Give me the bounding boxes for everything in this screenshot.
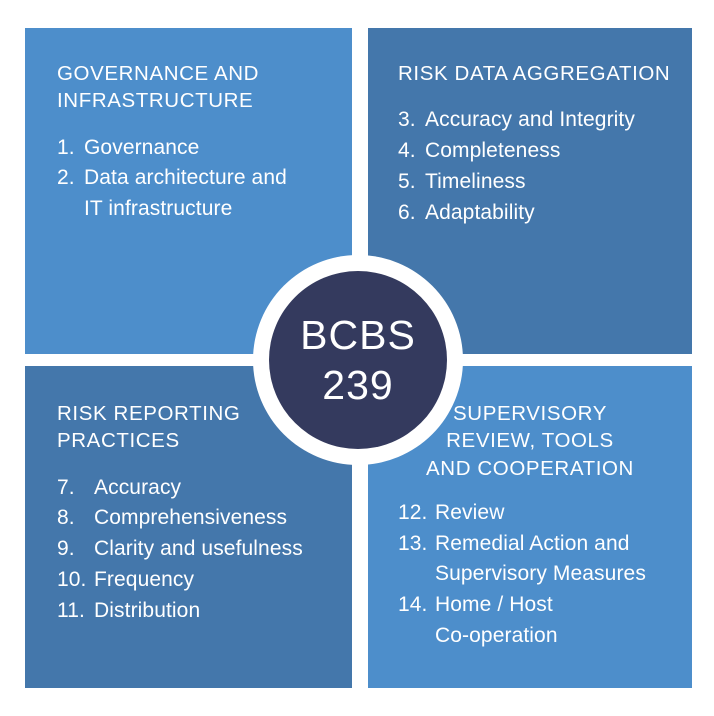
- center-hub-ring: BCBS 239: [253, 255, 463, 465]
- list-item: 14. Home / Host Co-operation: [398, 590, 676, 652]
- list-item: 5. Timeliness: [398, 167, 678, 198]
- list-item-number: 12.: [398, 498, 435, 529]
- list-item-label: Governance: [84, 133, 334, 164]
- list-item-label: Data architecture and IT infrastructure: [84, 163, 334, 225]
- list-item-number: 13.: [398, 529, 435, 560]
- principle-list-risk-data-aggregation: 3. Accuracy and Integrity 4. Completenes…: [398, 105, 678, 228]
- list-item-number: 10.: [57, 565, 94, 596]
- bcbs-239-diagram: GOVERNANCE AND INFRASTRUCTURE 1. Governa…: [0, 0, 714, 716]
- principle-list-governance-and-infrastructure: 1. Governance 2. Data architecture and I…: [57, 133, 334, 226]
- list-item-label: Frequency: [94, 565, 338, 596]
- list-item-number: 14.: [398, 590, 435, 621]
- quadrant-heading-risk-data-aggregation: RISK DATA AGGREGATION: [398, 60, 678, 87]
- list-item-label: Review: [435, 498, 676, 529]
- list-item-number: 4.: [398, 136, 425, 167]
- list-item-number: 7.: [57, 473, 94, 504]
- list-item-number: 8.: [57, 503, 94, 534]
- list-item-label: Timeliness: [425, 167, 678, 198]
- list-item: 1. Governance: [57, 133, 334, 164]
- principle-list-risk-reporting-practices: 7. Accuracy 8. Comprehensiveness 9. Clar…: [57, 473, 338, 627]
- list-item: 7. Accuracy: [57, 473, 338, 504]
- list-item-label: Accuracy and Integrity: [425, 105, 678, 136]
- list-item-label: Comprehensiveness: [94, 503, 338, 534]
- list-item: 2. Data architecture and IT infrastructu…: [57, 163, 334, 225]
- list-item: 8. Comprehensiveness: [57, 503, 338, 534]
- list-item-label: Home / Host Co-operation: [435, 590, 676, 652]
- list-item-label: Completeness: [425, 136, 678, 167]
- list-item-label: Distribution: [94, 596, 338, 627]
- list-item-label: Accuracy: [94, 473, 338, 504]
- list-item: 6. Adaptability: [398, 198, 678, 229]
- list-item-number: 3.: [398, 105, 425, 136]
- list-item-label: Clarity and usefulness: [94, 534, 338, 565]
- principle-list-supervisory-review-tools-and-cooperation: 12. Review 13. Remedial Action and Super…: [384, 498, 676, 652]
- list-item-number: 6.: [398, 198, 425, 229]
- list-item-label: Remedial Action and Supervisory Measures: [435, 529, 676, 591]
- list-item-number: 5.: [398, 167, 425, 198]
- list-item-number: 1.: [57, 133, 84, 164]
- list-item: 3. Accuracy and Integrity: [398, 105, 678, 136]
- list-item-number: 11.: [57, 596, 94, 627]
- list-item: 13. Remedial Action and Supervisory Meas…: [398, 529, 676, 591]
- list-item: 4. Completeness: [398, 136, 678, 167]
- center-hub-disc: BCBS 239: [269, 271, 447, 449]
- list-item-label: Adaptability: [425, 198, 678, 229]
- list-item: 12. Review: [398, 498, 676, 529]
- list-item: 9. Clarity and usefulness: [57, 534, 338, 565]
- center-hub-line-2: 239: [322, 360, 393, 410]
- list-item: 10. Frequency: [57, 565, 338, 596]
- quadrant-heading-governance-and-infrastructure: GOVERNANCE AND INFRASTRUCTURE: [57, 60, 334, 115]
- center-hub-line-1: BCBS: [300, 310, 416, 360]
- list-item-number: 9.: [57, 534, 94, 565]
- list-item-number: 2.: [57, 163, 84, 194]
- list-item: 11. Distribution: [57, 596, 338, 627]
